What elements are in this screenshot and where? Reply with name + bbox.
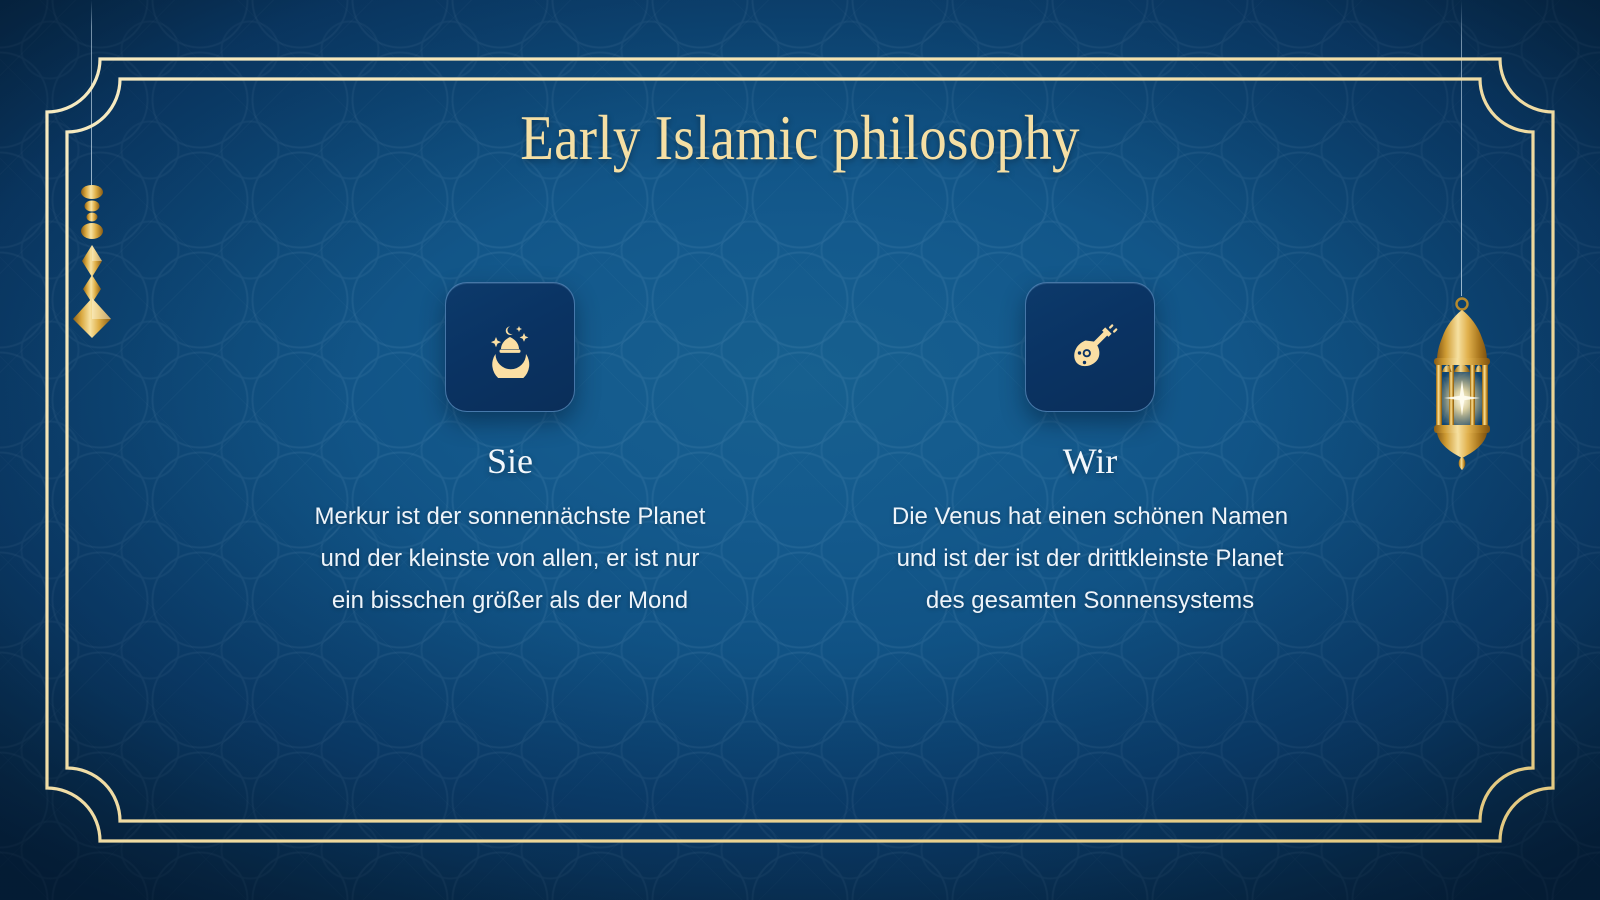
column-body-text: Merkur ist der sonnennächste Planet und … (310, 496, 710, 623)
feature-column-wir: Wir Die Venus hat einen schönen Namen un… (890, 282, 1290, 622)
column-heading: Sie (487, 442, 533, 482)
feature-columns: Sie Merkur ist der sonnennächste Planet … (210, 282, 1390, 622)
presentation-slide: Early Islamic philosophy (0, 0, 1600, 900)
icon-tile-oud[interactable] (1025, 282, 1155, 412)
slide-title: Early Islamic philosophy (112, 104, 1488, 171)
oud-lute-instrument-icon (1059, 316, 1121, 378)
pendant-hanging-thread (91, 0, 92, 190)
gold-lantern-ornament (1424, 292, 1500, 470)
feature-column-sie: Sie Merkur ist der sonnennächste Planet … (310, 282, 710, 622)
column-body-text: Die Venus hat einen schönen Namen und is… (890, 496, 1290, 623)
crescent-moon-mosque-icon (479, 316, 541, 378)
icon-tile-crescent[interactable] (445, 282, 575, 412)
gold-bead-pendant-ornament (71, 183, 113, 338)
column-heading: Wir (1063, 442, 1118, 482)
